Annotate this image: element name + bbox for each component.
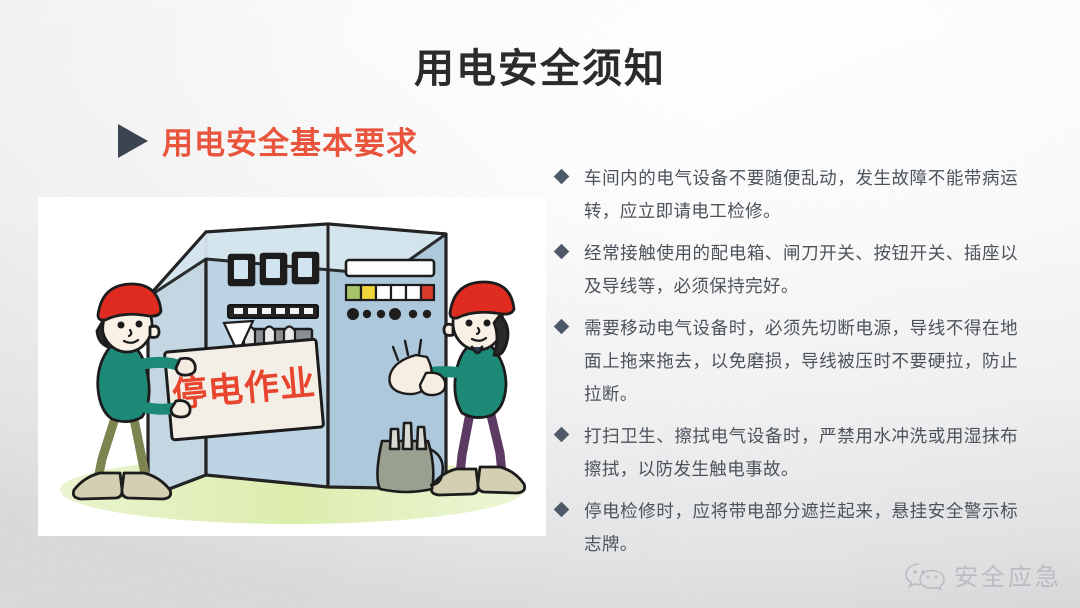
electrician-cabinet-illustration: 停电作业 <box>38 197 546 536</box>
wechat-icon <box>905 560 945 590</box>
list-item: 车间内的电气设备不要随便乱动，发生故障不能带病运转，应立即请电工检修。 <box>556 162 1018 228</box>
list-item: 打扫卫生、擦拭电气设备时，严禁用水冲洗或用湿抹布擦拭，以防发生触电事故。 <box>556 420 1018 486</box>
section-heading-label: 用电安全基本要求 <box>162 118 418 163</box>
diamond-icon <box>554 319 570 335</box>
diamond-icon <box>554 244 570 260</box>
diamond-icon <box>554 427 570 443</box>
diamond-icon <box>554 502 570 518</box>
list-item-text: 打扫卫生、擦拭电气设备时，严禁用水冲洗或用湿抹布擦拭，以防发生触电事故。 <box>584 420 1018 486</box>
section-heading: 用电安全基本要求 <box>118 118 418 163</box>
illustration-image: 停电作业 <box>38 197 546 536</box>
bullet-list: 车间内的电气设备不要随便乱动，发生故障不能带病运转，应立即请电工检修。 经常接触… <box>556 162 1018 570</box>
list-item-text: 需要移动电气设备时，必须先切断电源，导线不得在地面上拖来拖去，以免磨损，导线被压… <box>584 312 1018 411</box>
watermark-label: 安全应急 <box>954 557 1062 592</box>
diamond-icon <box>554 169 570 185</box>
list-item: 停电检修时，应将带电部分遮拦起来，悬挂安全警示标志牌。 <box>556 495 1018 561</box>
list-item-text: 经常接触使用的配电箱、闸刀开关、按钮开关、插座以及导线等，必须保持完好。 <box>584 237 1018 303</box>
watermark: 安全应急 <box>905 557 1062 592</box>
list-item-text: 停电检修时，应将带电部分遮拦起来，悬挂安全警示标志牌。 <box>584 495 1018 561</box>
list-item: 经常接触使用的配电箱、闸刀开关、按钮开关、插座以及导线等，必须保持完好。 <box>556 237 1018 303</box>
triangle-right-icon <box>118 124 148 158</box>
page-title: 用电安全须知 <box>0 36 1080 94</box>
slide-canvas: 用电安全须知 用电安全基本要求 <box>0 0 1080 608</box>
list-item: 需要移动电气设备时，必须先切断电源，导线不得在地面上拖来拖去，以免磨损，导线被压… <box>556 312 1018 411</box>
list-item-text: 车间内的电气设备不要随便乱动，发生故障不能带病运转，应立即请电工检修。 <box>584 162 1018 228</box>
